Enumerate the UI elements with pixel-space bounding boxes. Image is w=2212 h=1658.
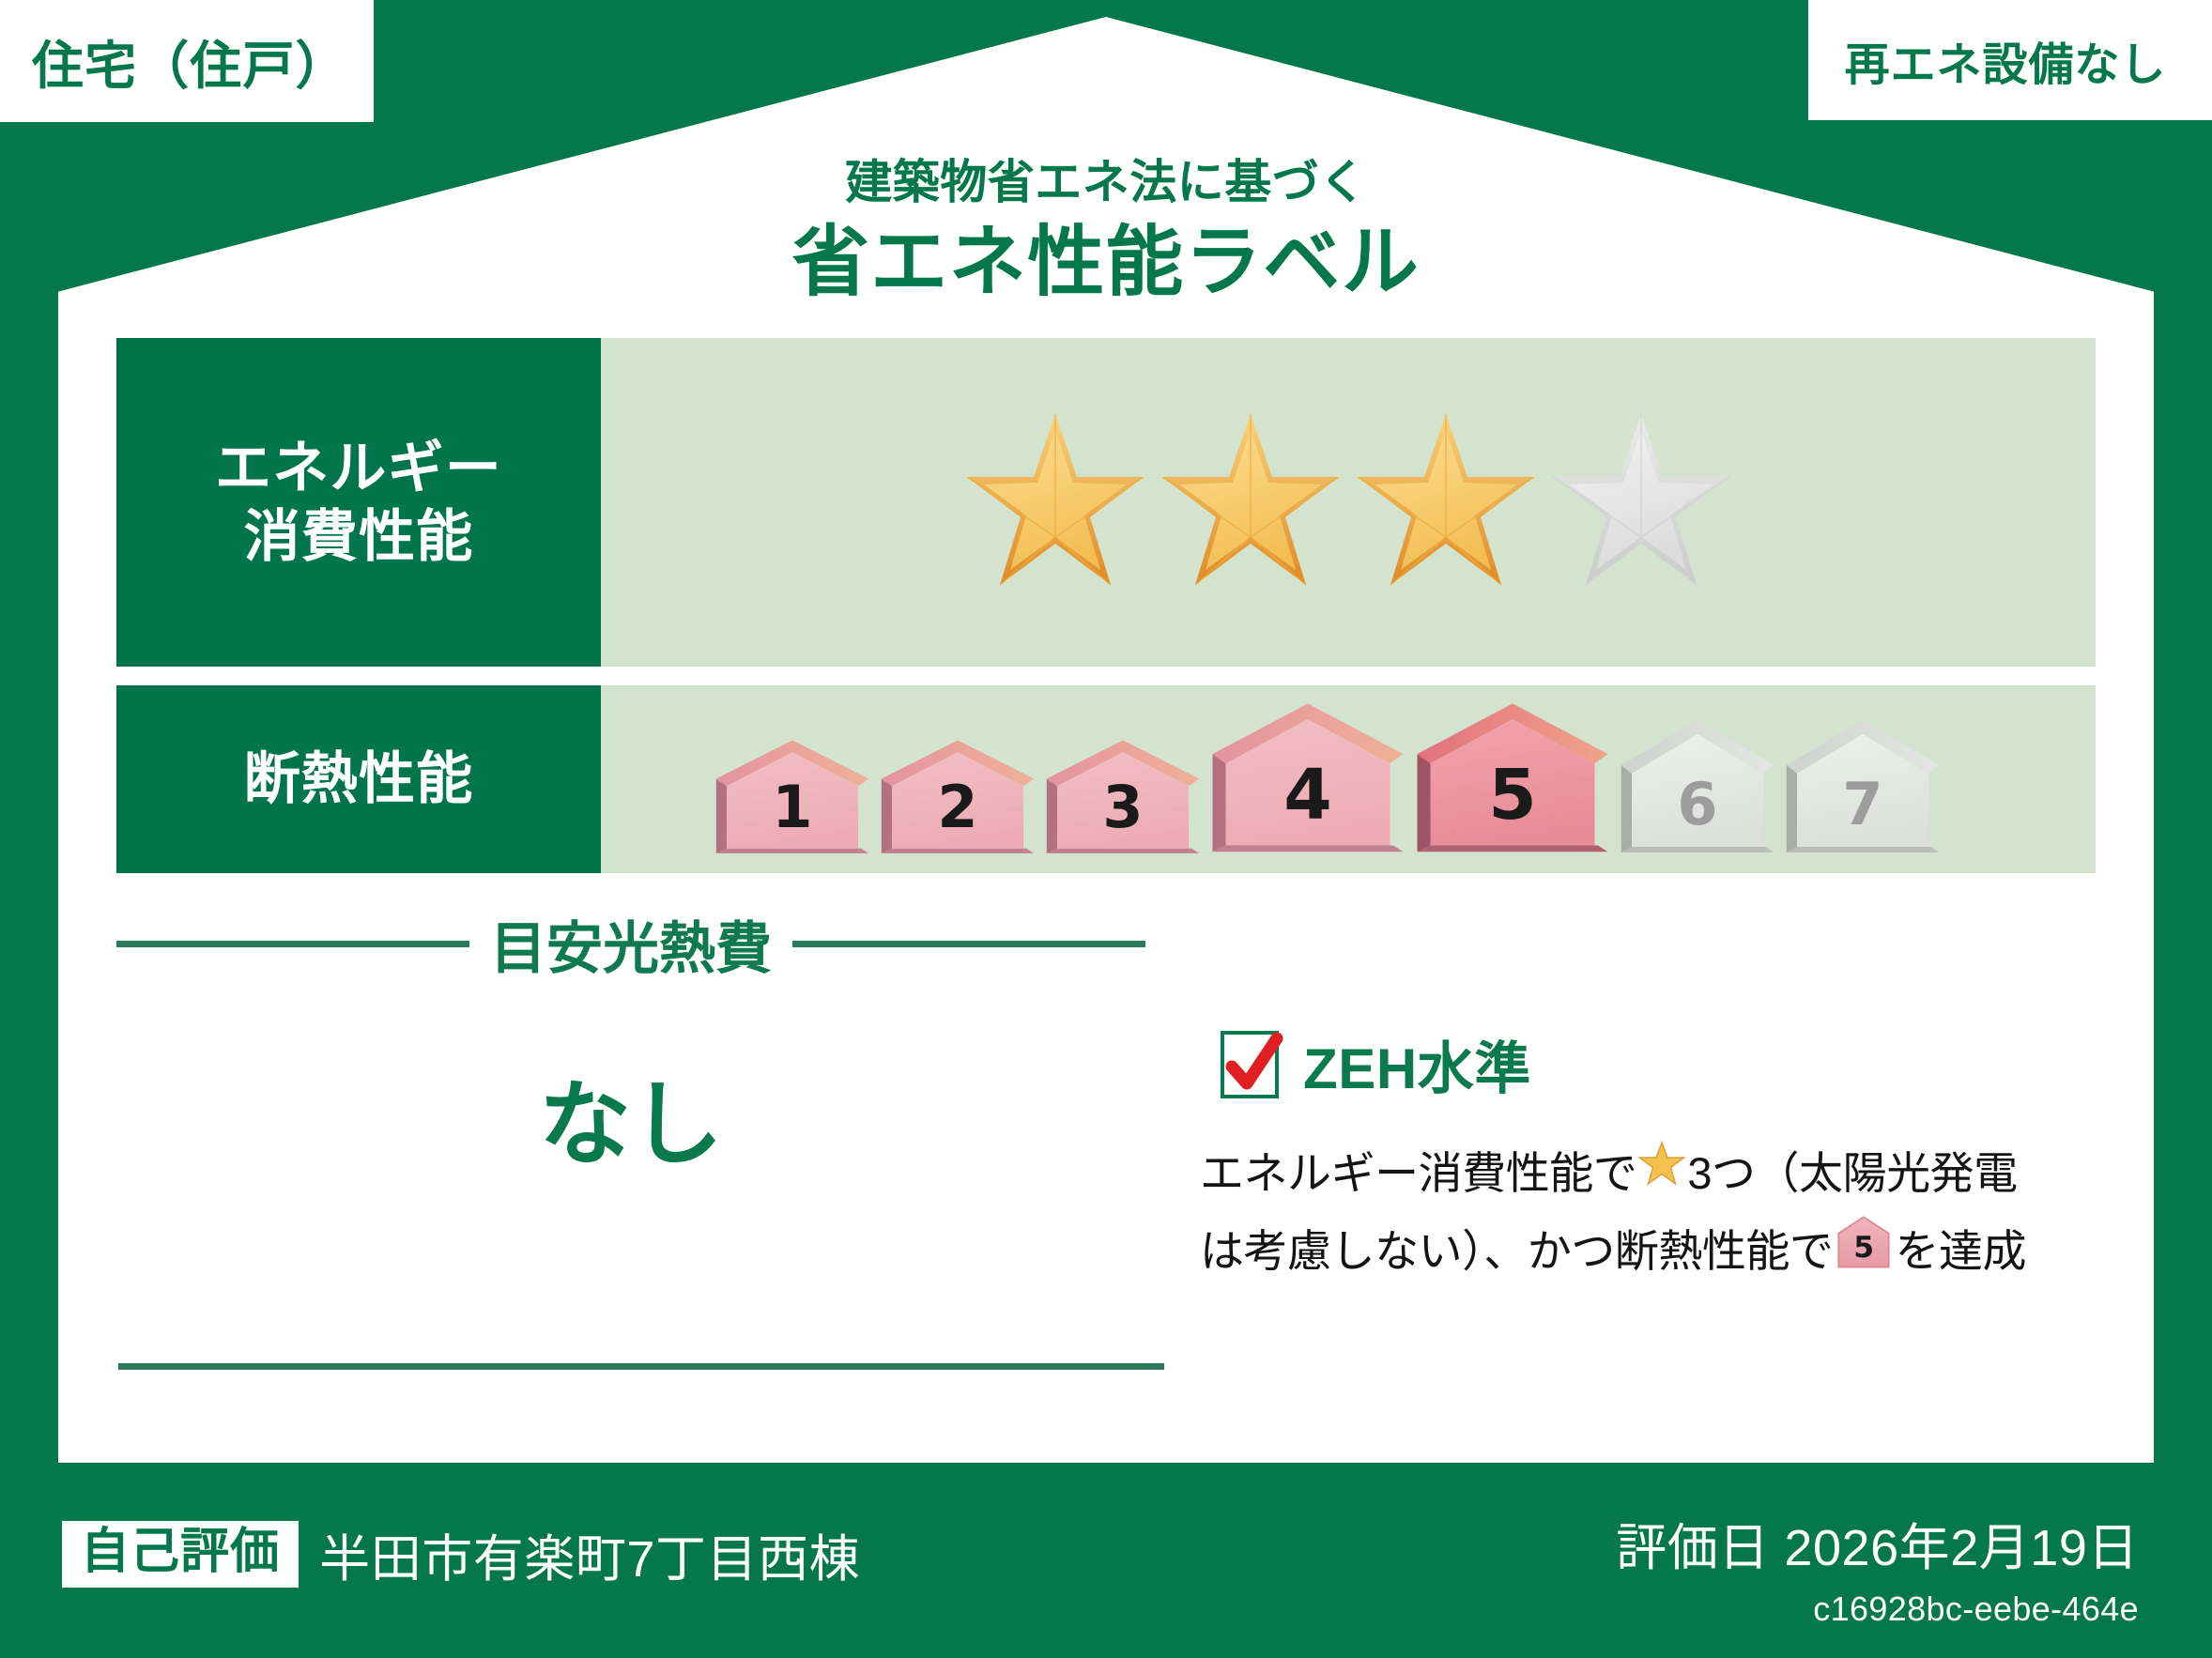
insulation-rating-area: 1234567 xyxy=(601,685,2096,873)
footer-right-group: 評価日 2026年2月19日 c16928bc-eebe-464e xyxy=(1616,1506,2139,1629)
zeh-standard-title: ZEH水準 xyxy=(1303,1023,1531,1105)
insulation-level-4: 4 xyxy=(1209,700,1406,858)
insulation-level-number: 5 xyxy=(1414,755,1611,836)
zeh-desc-2a: は考慮しない）、かつ断熱性能で xyxy=(1200,1215,1833,1280)
estimated-utility-cost-value: なし xyxy=(116,1050,1145,1183)
zeh-description-line-2: は考慮しない）、かつ断熱性能で 5 を達成 xyxy=(1200,1215,2120,1280)
insulation-level-7: 7 xyxy=(1784,717,1942,858)
self-evaluation-badge: 自己評価 xyxy=(62,1521,299,1588)
star-icon-inline xyxy=(1638,1141,1685,1198)
insulation-performance-label: 断熱性能 xyxy=(116,685,601,873)
estimated-utility-cost-heading: 目安光熱費 xyxy=(116,903,1145,985)
evaluation-date: 評価日 2026年2月19日 xyxy=(1616,1506,2139,1580)
inline-house-number: 5 xyxy=(1854,1231,1875,1265)
building-name: 半田市有楽町7丁目西棟 xyxy=(319,1517,860,1591)
insulation-level-number: 2 xyxy=(879,773,1037,841)
label-identifier: c16928bc-eebe-464e xyxy=(1616,1589,2139,1629)
insulation-performance-row: 断熱性能 1234567 xyxy=(116,685,2096,873)
energy-label-line2: 消費性能 xyxy=(244,502,474,571)
label-title: 省エネ性能ラベル xyxy=(0,199,2212,311)
insulation-level-number: 1 xyxy=(714,773,871,841)
zeh-title-row: ZEH水準 xyxy=(1200,1023,2120,1105)
zeh-desc-2b: を達成 xyxy=(1895,1215,2026,1280)
zeh-desc-1a: エネルギー消費性能で xyxy=(1200,1137,1636,1202)
zeh-checkbox[interactable] xyxy=(1221,1031,1279,1098)
check-icon xyxy=(1219,1025,1290,1108)
dwelling-type-badge: 住宅（住戸） xyxy=(0,0,374,122)
insulation-level-5: 5 xyxy=(1414,700,1611,858)
star-rating xyxy=(961,408,1735,596)
footer-left-group: 自己評価 半田市有楽町7丁目西棟 xyxy=(62,1517,860,1591)
insulation-level-icon-inline: 5 xyxy=(1836,1216,1891,1279)
star-icon-empty xyxy=(1547,408,1735,596)
insulation-level-2: 2 xyxy=(879,738,1037,858)
energy-label-line1: エネルギー xyxy=(215,434,502,502)
star-icon-filled xyxy=(1352,408,1540,596)
insulation-level-3: 3 xyxy=(1044,738,1202,858)
estimated-utility-cost-title: 目安光熱費 xyxy=(490,903,772,985)
insulation-level-number: 7 xyxy=(1784,770,1942,838)
star-icon-filled xyxy=(961,408,1149,596)
insulation-level-number: 4 xyxy=(1209,755,1406,836)
heading-rule-right xyxy=(792,941,1145,947)
insulation-level-6: 6 xyxy=(1619,717,1776,858)
insulation-level-1: 1 xyxy=(714,738,871,858)
zeh-description-line-1: エネルギー消費性能で 3つ（太陽光発電 xyxy=(1200,1137,2120,1202)
energy-performance-label: エネルギー 消費性能 xyxy=(116,338,601,667)
star-icon-filled xyxy=(1157,408,1344,596)
energy-rating-area xyxy=(601,338,2096,667)
insulation-level-scale: 1234567 xyxy=(714,700,1942,858)
label-footer: 自己評価 半田市有楽町7丁目西棟 評価日 2026年2月19日 c16928bc… xyxy=(0,1465,2212,1658)
insulation-level-number: 6 xyxy=(1619,770,1776,838)
zeh-standard-block: ZEH水準 エネルギー消費性能で 3つ（太陽光発電 は考慮しない）、かつ断熱性能… xyxy=(1200,1023,2120,1280)
heading-rule-left xyxy=(116,941,469,947)
insulation-level-number: 3 xyxy=(1044,773,1202,841)
renewable-equipment-badge: 再エネ設備なし xyxy=(1808,0,2212,120)
energy-performance-label: 住宅（住戸） 再エネ設備なし 建築物省エネ法に基づく 省エネ性能ラベル エネルギ… xyxy=(0,0,2212,1658)
cost-section-bottom-rule xyxy=(118,1363,1164,1370)
energy-performance-row: エネルギー 消費性能 xyxy=(116,338,2096,667)
zeh-desc-1b: 3つ（太陽光発電 xyxy=(1687,1137,2017,1202)
